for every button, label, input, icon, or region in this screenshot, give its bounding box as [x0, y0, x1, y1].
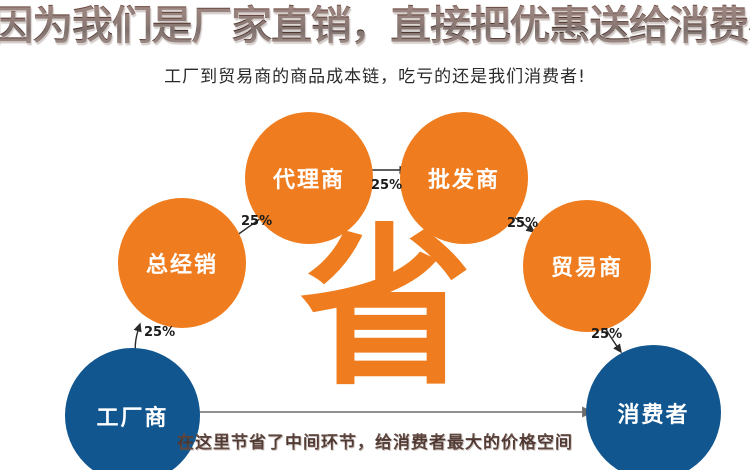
edge-label-zongjingxiao-dailishang: 25%: [241, 214, 272, 229]
node-maoyishang-label: 贸易商: [551, 250, 623, 282]
node-pifashang-label: 批发商: [428, 162, 500, 194]
node-gongchang-label: 工厂商: [96, 400, 168, 432]
promo-diagram-canvas: 因为我们是厂家直销，直接把优惠送给消费者 因为我们是厂家直销，直接把优惠送给消费…: [0, 0, 750, 470]
edge-label-gongchang-zongjingxiao: 25%: [144, 325, 175, 340]
edge-label-pifashang-maoyishang: 25%: [507, 216, 538, 231]
node-zongjingxiao-label: 总经销: [146, 247, 218, 279]
node-zongjingxiao[interactable]: 总经销: [118, 198, 246, 328]
node-dailishang-label: 代理商: [273, 162, 345, 194]
center-save-glyph: 省: [300, 224, 460, 394]
node-maoyishang[interactable]: 贸易商: [523, 200, 651, 332]
node-xiaofeizhe-label: 消费者: [617, 397, 689, 429]
page-title: 因为我们是厂家直销，直接把优惠送给消费者: [0, 4, 750, 48]
footer-caption: 在这里节省了中间环节，给消费者最大的价格空间: [0, 428, 750, 453]
edge-label-dailishang-pifashang: 25%: [371, 178, 402, 193]
edge-label-maoyishang-xiaofeizhe: 25%: [591, 327, 622, 342]
page-subtitle: 工厂到贸易商的商品成本链，吃亏的还是我们消费者!: [0, 62, 750, 87]
